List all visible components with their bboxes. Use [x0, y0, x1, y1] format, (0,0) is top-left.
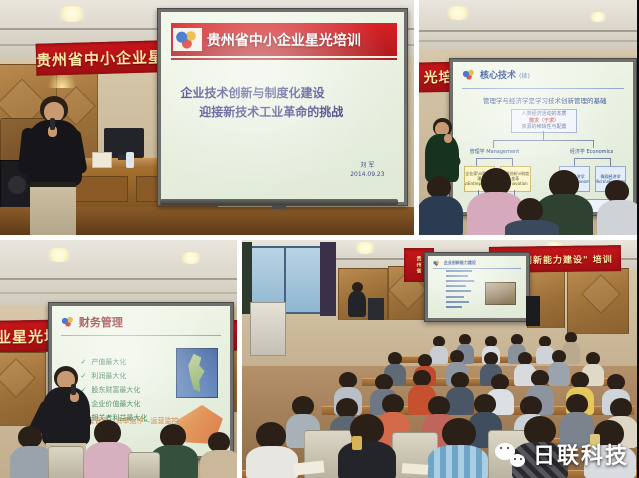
slide-title: 企业创新能力建设 [433, 260, 476, 266]
ceiling-light-icon [55, 6, 89, 22]
lectern [368, 298, 384, 320]
audience-member [84, 420, 132, 478]
banner-text: 贵州省中小企业星 [36, 46, 165, 71]
hand [444, 134, 452, 143]
red-banner-top-left: 贵州省中小企业星 [36, 40, 165, 76]
microphone-icon [71, 384, 76, 395]
ceiling-light-icon [443, 6, 473, 20]
slide-bullet-lines [446, 270, 474, 312]
ceiling-light-icon [352, 242, 378, 254]
slide-title-text: 核心技术 [480, 71, 516, 81]
water-bottle [126, 152, 134, 168]
watermark-text: 日联科技 [533, 438, 629, 470]
audience-member [246, 422, 298, 478]
slide-title-text: 企业创新能力建设 [444, 260, 476, 266]
projection-screen: 贵州省中小企业星光培训 企业技术创新与制度化建设 迎接新技术工业革命的挑战 刘 … [161, 12, 404, 202]
bullet-text: 企业价值最大化 [91, 399, 140, 409]
ceiling-light-icon [178, 252, 204, 264]
signature-name: 刘 军 [350, 161, 384, 170]
projection-screen-frame: 贵州省中小企业星光培训 企业技术创新与制度化建设 迎接新技术工业革命的挑战 刘 … [157, 8, 408, 206]
wechat-icon [495, 441, 525, 467]
wechat-watermark: 日联科技 [495, 438, 629, 470]
projection-screen: 企业创新能力建设 [428, 256, 526, 318]
air-conditioner [250, 302, 286, 356]
chair [128, 452, 160, 478]
ceiling-light-icon [587, 12, 609, 22]
audience-member [200, 432, 237, 478]
slide-title-note: (续) [519, 73, 530, 80]
slide-signature: 刘 军 2014.09.23 [350, 161, 384, 179]
slide-body-line-1: 企业技术创新与制度化建设 [180, 84, 389, 103]
org-logo-icon [433, 260, 440, 266]
cup [352, 436, 362, 450]
slide-title-text: 财务管理 [79, 314, 123, 330]
slide-title: 财务管理 [61, 314, 123, 330]
flowchart-heading: 管理学与经济学是学习技术创新管理的基础 [471, 95, 619, 105]
notebook [402, 463, 429, 475]
slide-body: 企业技术创新与制度化建设 迎接新技术工业革命的挑战 [180, 84, 389, 121]
check-icon: ✓ [80, 358, 86, 366]
signature-date: 2014.09.23 [350, 170, 384, 179]
slide-divider [171, 58, 397, 60]
panel-top-right: 光培训 核心技术 (续) 管理学与经济学是学 [419, 0, 637, 235]
panel-top-left: 贵州省中小企业星 [0, 0, 414, 235]
panel-bottom-left: 业星光培训 财务管理 ✓ 产值最大化 [0, 240, 237, 478]
projection-screen-frame: 企业创新能力建设 [424, 252, 530, 322]
ceiling-light-icon [44, 248, 74, 262]
presenter [18, 96, 90, 235]
slide-band-title: 贵州省中小企业星光培训 [207, 30, 361, 50]
slide-image-map [176, 348, 217, 398]
slide-title-band: 贵州省中小企业星光培训 [171, 23, 397, 55]
photo-collage: 贵州省中小企业星 [0, 0, 639, 478]
panel-bottom-right: 贵州省 "自主创新能力建设" 培训 企业创新能力建设 [242, 240, 637, 478]
presenter-trousers [30, 184, 76, 235]
audience-member [505, 198, 557, 235]
audience-member [419, 176, 463, 235]
bullet-text: 利润最大化 [91, 371, 126, 381]
slide-body-line-2: 迎接新技术工业革命的挑战 [180, 103, 389, 122]
bullet-text: 股东财富最大化 [91, 385, 140, 395]
slide-image-thumbnail [485, 282, 516, 305]
audience-member [12, 426, 52, 478]
node-sub: 资源的稀缺性与配置 [521, 124, 566, 130]
name-card [92, 152, 112, 168]
microphone-icon [50, 118, 55, 130]
belt [30, 182, 76, 187]
bullet-text: 产值最大化 [91, 357, 126, 367]
banner-text: 贵州省 [416, 256, 423, 274]
loudspeaker [526, 296, 540, 326]
audience-member [338, 414, 396, 478]
screen-pull-handle[interactable] [272, 205, 286, 209]
audience-member [428, 418, 488, 478]
flowchart-branch-left: 管理学 Management [464, 148, 525, 155]
audience-member [597, 180, 637, 235]
presenter [346, 282, 368, 322]
flowchart-node-root: 人类经济活动的本质 需求（于求） 资源的稀缺性与配置 [511, 109, 578, 134]
chair [48, 446, 84, 478]
flowchart-branch-right: 经济学 Economics [561, 148, 622, 155]
org-logo-icon [462, 69, 476, 80]
curtain [320, 242, 336, 316]
org-logo-icon [61, 316, 75, 327]
org-logo-icon [173, 28, 202, 52]
slide-title: 核心技术 (续) [462, 68, 530, 81]
